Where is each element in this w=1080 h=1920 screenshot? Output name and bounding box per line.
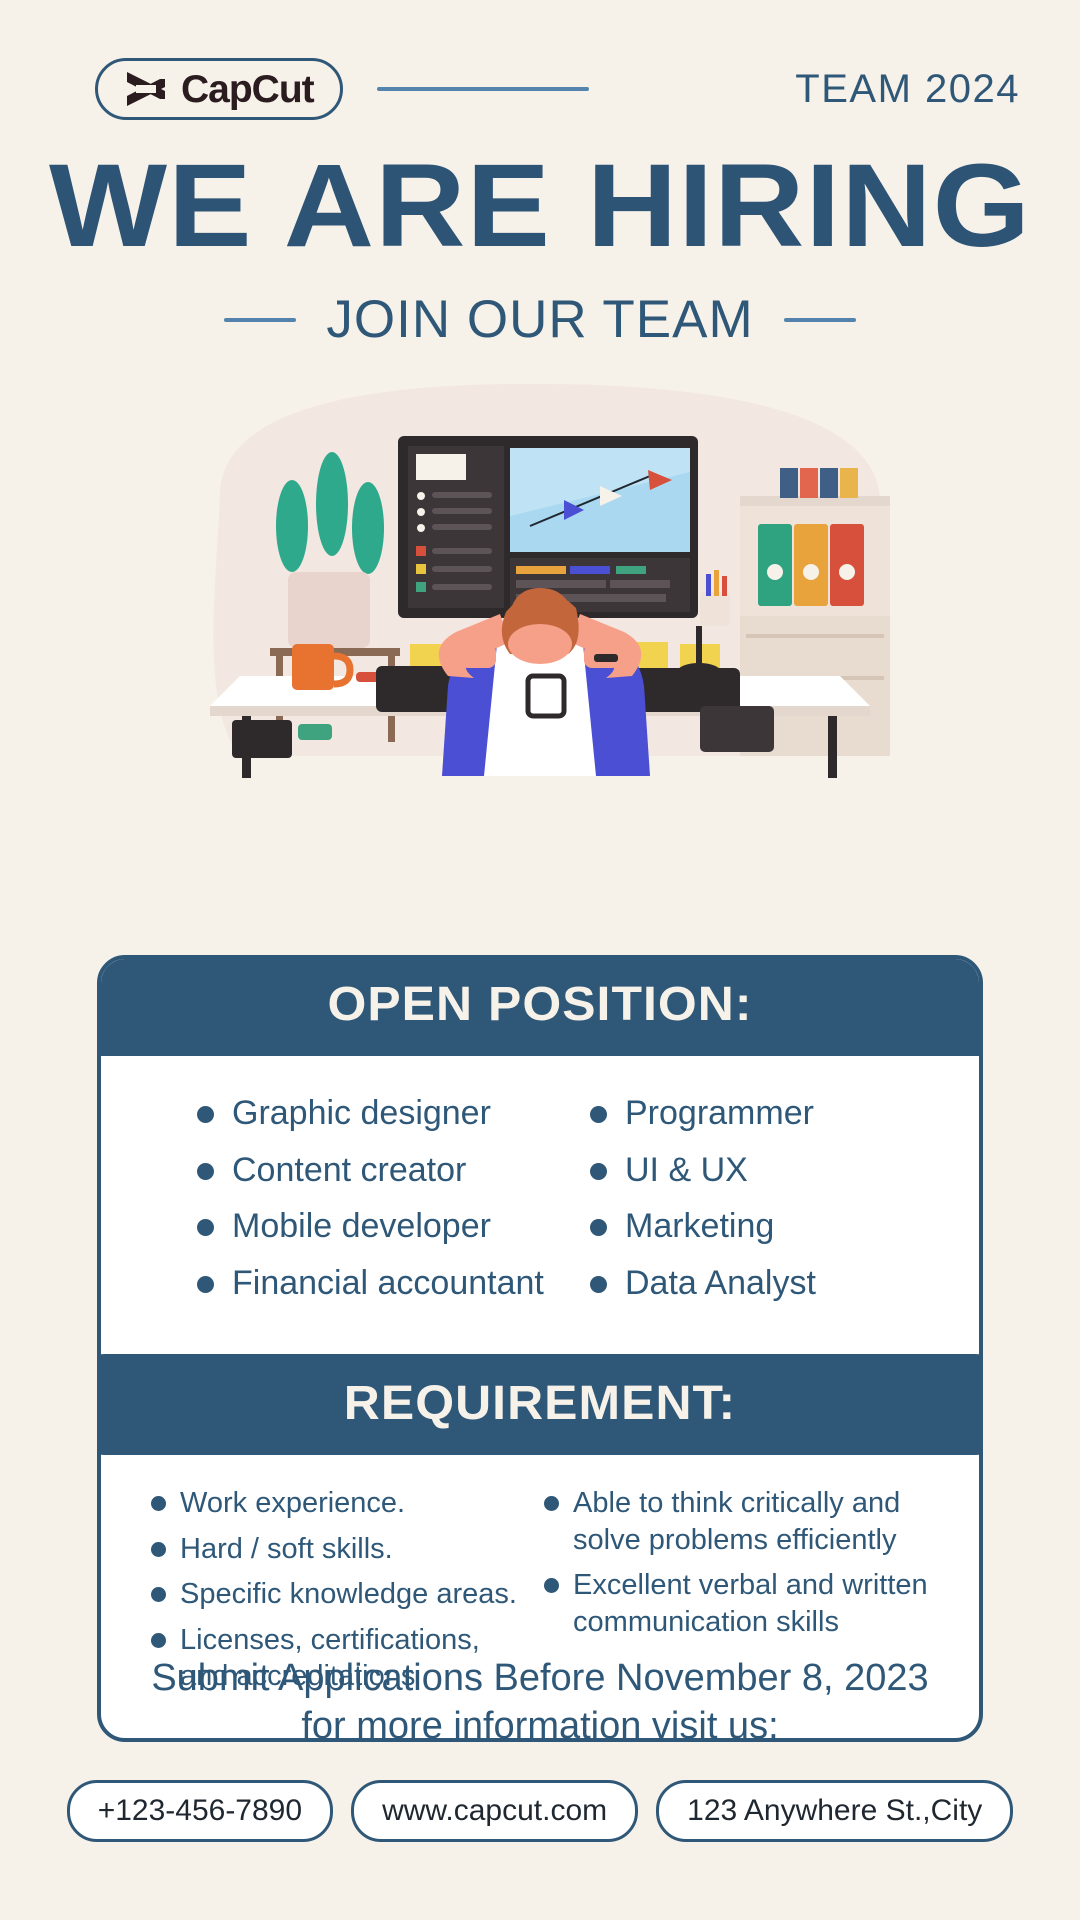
poster-header: CapCut TEAM 2024 xyxy=(0,0,1080,120)
deadline-line-1: Submit Applications Before November 8, 2… xyxy=(0,1655,1080,1703)
open-position-banner: OPEN POSITION: xyxy=(97,955,983,1056)
desk-scene-illustration xyxy=(180,376,900,796)
list-item[interactable]: Excellent verbal and written communicati… xyxy=(544,1567,935,1640)
subtitle-dash-right xyxy=(784,318,856,322)
open-position-right-column: Programmer UI & UX Marketing Data Analys… xyxy=(590,1092,923,1318)
hiring-poster: CapCut TEAM 2024 WE ARE HIRING JOIN OUR … xyxy=(0,0,1080,1920)
bullet-icon xyxy=(544,1496,559,1511)
bullet-icon xyxy=(197,1219,214,1236)
capcut-scissors-icon xyxy=(124,69,168,109)
header-divider-line xyxy=(377,87,589,91)
bullet-icon xyxy=(197,1163,214,1180)
contact-website[interactable]: www.capcut.com xyxy=(351,1780,638,1842)
contact-pills: +123-456-7890 www.capcut.com 123 Anywher… xyxy=(0,1780,1080,1842)
bullet-icon xyxy=(151,1587,166,1602)
list-item[interactable]: Programmer xyxy=(590,1092,923,1135)
list-item[interactable]: Content creator xyxy=(197,1149,580,1192)
page-title: WE ARE HIRING xyxy=(0,150,1080,263)
bullet-icon xyxy=(590,1163,607,1180)
bullet-icon xyxy=(544,1578,559,1593)
subtitle-row: JOIN OUR TEAM xyxy=(0,289,1080,350)
team-year-label: TEAM 2024 xyxy=(795,67,1020,112)
requirement-banner: REQUIREMENT: xyxy=(97,1354,983,1455)
open-position-lists: Graphic designer Content creator Mobile … xyxy=(101,1056,979,1348)
list-item[interactable]: Marketing xyxy=(590,1205,923,1248)
contact-address[interactable]: 123 Anywhere St.,City xyxy=(656,1780,1013,1842)
list-item[interactable]: Data Analyst xyxy=(590,1262,923,1305)
deadline-line-2: for more information visit us: xyxy=(0,1703,1080,1751)
bullet-icon xyxy=(197,1106,214,1123)
bullet-icon xyxy=(590,1276,607,1293)
capcut-wordmark: CapCut xyxy=(181,70,314,109)
list-item[interactable]: Graphic designer xyxy=(197,1092,580,1135)
list-item[interactable]: Work experience. xyxy=(151,1485,534,1522)
list-item[interactable]: Financial accountant xyxy=(197,1262,580,1305)
bullet-icon xyxy=(151,1496,166,1511)
page-subtitle: JOIN OUR TEAM xyxy=(326,289,753,350)
open-position-left-column: Graphic designer Content creator Mobile … xyxy=(157,1092,580,1318)
list-item[interactable]: Hard / soft skills. xyxy=(151,1531,534,1568)
capcut-logo[interactable]: CapCut xyxy=(95,58,343,120)
positions-card: OPEN POSITION: Graphic designer Content … xyxy=(97,955,983,1742)
contact-phone[interactable]: +123-456-7890 xyxy=(67,1780,333,1842)
bullet-icon xyxy=(151,1633,166,1648)
subtitle-dash-left xyxy=(224,318,296,322)
list-item[interactable]: Specific knowledge areas. xyxy=(151,1576,534,1613)
bullet-icon xyxy=(590,1106,607,1123)
list-item[interactable]: Mobile developer xyxy=(197,1205,580,1248)
bullet-icon xyxy=(590,1219,607,1236)
submission-deadline: Submit Applications Before November 8, 2… xyxy=(0,1655,1080,1750)
list-item[interactable]: UI & UX xyxy=(590,1149,923,1192)
hero-illustration xyxy=(0,376,1080,806)
bullet-icon xyxy=(151,1542,166,1557)
list-item[interactable]: Able to think critically and solve probl… xyxy=(544,1485,935,1558)
bullet-icon xyxy=(197,1276,214,1293)
